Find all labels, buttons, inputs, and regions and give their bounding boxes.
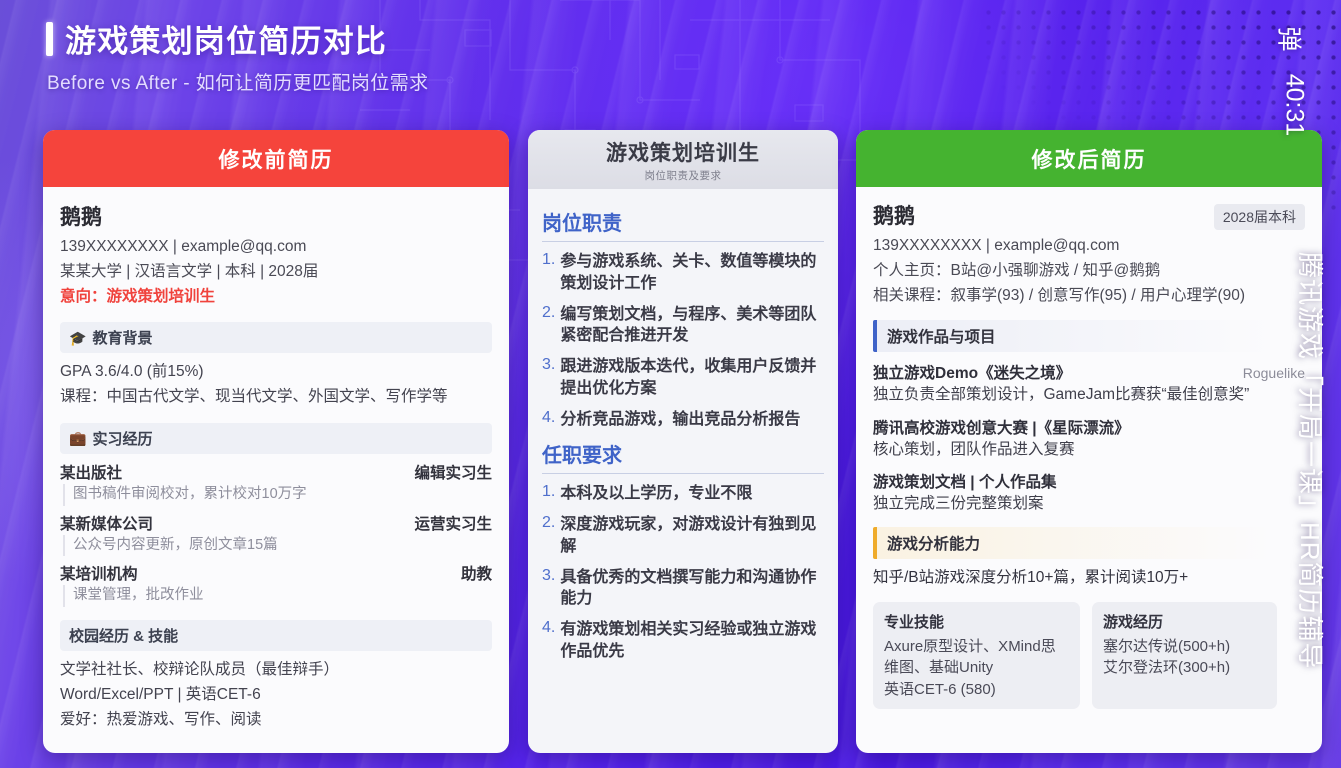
jd-list-item: 2. 深度游戏玩家，对游戏设计有独到见解 [542, 514, 824, 558]
jd-card-body: 岗位职责 1. 参与游戏系统、关卡、数值等模块的策划设计工作 2. 编写策划文档… [528, 189, 838, 682]
internship-item: 某培训机构 助教 课堂管理，批改作业 [60, 562, 492, 607]
internship-org: 某新媒体公司 [60, 512, 153, 534]
jd-section-heading: 任职要求 [542, 439, 824, 474]
before-internship-section-header: 💼 实习经历 [60, 423, 492, 454]
jd-list-item: 4. 分析竞品游戏，输出竞品分析报告 [542, 409, 824, 431]
graduation-cap-icon: 🎓 [69, 331, 86, 345]
skills-box-title: 专业技能 [884, 611, 1069, 632]
skills-box-line: 英语CET-6 (580) [884, 679, 1069, 700]
graduation-badge: 2028届本科 [1214, 204, 1305, 230]
internship-role: 运营实习生 [414, 512, 492, 534]
jd-item-text: 具备优秀的文档撰写能力和沟通协作能力 [560, 567, 824, 611]
after-homepage-line: 个人主页：B站@小强聊游戏 / 知乎@鹅鹅 [873, 258, 1305, 283]
before-campus-title: 校园经历 & 技能 [69, 625, 178, 646]
project-title-row: 独立游戏Demo《迷失之境》 Roguelike [873, 361, 1305, 383]
after-analysis-section-header: 游戏分析能力 [873, 527, 1305, 559]
internship-desc: 公众号内容更新，原创文章15篇 [63, 535, 492, 557]
jd-item-number: 3. [542, 567, 555, 611]
jd-section-heading: 岗位职责 [542, 207, 824, 242]
jd-list-item: 4. 有游戏策划相关实习经验或独立游戏作品优先 [542, 619, 824, 663]
page-subtitle: Before vs After - 如何让简历更匹配岗位需求 [47, 68, 429, 95]
internship-item-row: 某新媒体公司 运营实习生 [60, 512, 492, 534]
before-campus-section-header: 校园经历 & 技能 [60, 620, 492, 651]
internship-item: 某新媒体公司 运营实习生 公众号内容更新，原创文章15篇 [60, 512, 492, 557]
jd-list-item: 2. 编写策划文档，与程序、美术等团队紧密配合推进开发 [542, 304, 824, 348]
jd-item-text: 深度游戏玩家，对游戏设计有独到见解 [560, 514, 824, 558]
stream-overlay-timer-group: 弹 40:31 [1262, 18, 1325, 120]
after-courses-line: 相关课程：叙事学(93) / 创意写作(95) / 用户心理学(90) [873, 283, 1305, 308]
internship-org: 某出版社 [60, 461, 122, 483]
before-campus-line: Word/Excel/PPT | 英语CET-6 [60, 683, 492, 708]
project-title-row: 腾讯高校游戏创意大赛 |《星际漂流》 [873, 416, 1305, 438]
after-projects-section-header: 游戏作品与项目 [873, 320, 1305, 352]
before-person-name: 鹅鹅 [60, 201, 492, 231]
stream-timer: 40:31 [1279, 74, 1309, 137]
jd-item-text: 分析竞品游戏，输出竞品分析报告 [560, 409, 800, 431]
project-title: 游戏策划文档 | 个人作品集 [873, 470, 1056, 492]
after-analysis-line: 知乎/B站游戏深度分析10+篇，累计阅读10万+ [873, 566, 1305, 590]
before-card-body: 鹅鹅 139XXXXXXXX | example@qq.com 某某大学 | 汉… [43, 187, 509, 743]
before-education-line: GPA 3.6/4.0 (前15%) [60, 360, 492, 385]
before-education-section-header: 🎓 教育背景 [60, 322, 492, 353]
before-campus-line: 爱好：热爱游戏、写作、阅读 [60, 708, 492, 733]
vertical-watermark: 腾讯游戏「开局一课」HR简历辅导 [1290, 248, 1341, 768]
game-box-title: 游戏经历 [1103, 611, 1266, 632]
after-contact-line: 139XXXXXXXX | example@qq.com [873, 233, 1305, 258]
jd-item-text: 跟进游戏版本迭代，收集用户反馈并提出优化方案 [560, 356, 824, 400]
before-card-header-label: 修改前简历 [219, 144, 334, 174]
jd-list-item: 1. 本科及以上学历，专业不限 [542, 483, 824, 505]
jd-list-item: 1. 参与游戏系统、关卡、数值等模块的策划设计工作 [542, 251, 824, 295]
job-description-card: 游戏策划培训生 岗位职责及要求 岗位职责 1. 参与游戏系统、关卡、数值等模块的… [528, 130, 838, 753]
jd-item-text: 有游戏策划相关实习经验或独立游戏作品优先 [560, 619, 824, 663]
jd-card-header: 游戏策划培训生 岗位职责及要求 [528, 130, 838, 189]
internship-desc: 图书稿件审阅校对，累计校对10万字 [63, 484, 492, 506]
before-intent-line: 意向：游戏策划培训生 [60, 284, 492, 309]
jd-list-item: 3. 跟进游戏版本迭代，收集用户反馈并提出优化方案 [542, 356, 824, 400]
page-title: 游戏策划岗位简历对比 [65, 16, 387, 61]
briefcase-icon: 💼 [69, 431, 86, 445]
jd-item-number: 2. [542, 514, 555, 558]
project-item: 独立游戏Demo《迷失之境》 Roguelike 独立负责全部策划设计，Game… [873, 361, 1305, 406]
before-intent-label: 意向： [60, 288, 107, 305]
project-title: 独立游戏Demo《迷失之境》 [873, 361, 1071, 383]
jd-item-number: 1. [542, 483, 555, 505]
before-resume-card: 修改前简历 鹅鹅 139XXXXXXXX | example@qq.com 某某… [43, 130, 509, 753]
before-contact-line: 139XXXXXXXX | example@qq.com [60, 234, 492, 259]
project-desc: 独立负责全部策划设计，GameJam比赛获“最佳创意奖” [873, 383, 1305, 406]
internship-desc: 课堂管理，批改作业 [63, 585, 492, 607]
project-title-row: 游戏策划文档 | 个人作品集 [873, 470, 1305, 492]
internship-role: 助教 [461, 562, 492, 584]
after-resume-card: 修改后简历 鹅鹅 2028届本科 139XXXXXXXX | example@q… [856, 130, 1322, 753]
internship-item-row: 某出版社 编辑实习生 [60, 461, 492, 483]
jd-item-text: 编写策划文档，与程序、美术等团队紧密配合推进开发 [560, 304, 824, 348]
project-item: 腾讯高校游戏创意大赛 |《星际漂流》 核心策划，团队作品进入复赛 [873, 416, 1305, 461]
before-school-line: 某某大学 | 汉语言文学 | 本科 | 2028届 [60, 259, 492, 284]
jd-item-text: 参与游戏系统、关卡、数值等模块的策划设计工作 [560, 251, 824, 295]
jd-item-number: 2. [542, 304, 555, 348]
jd-title: 游戏策划培训生 [606, 137, 760, 167]
title-accent-bar [46, 22, 53, 56]
internship-item-row: 某培训机构 助教 [60, 562, 492, 584]
project-desc: 独立完成三份完整策划案 [873, 492, 1305, 515]
slide-header: 游戏策划岗位简历对比 Before vs After - 如何让简历更匹配岗位需… [46, 16, 429, 95]
slide-canvas: 游戏策划岗位简历对比 Before vs After - 如何让简历更匹配岗位需… [0, 0, 1341, 768]
game-box-line: 艾尔登法环(300+h) [1103, 657, 1266, 678]
after-card-body: 鹅鹅 2028届本科 139XXXXXXXX | example@qq.com … [856, 187, 1322, 719]
before-education-title: 教育背景 [92, 327, 152, 348]
jd-item-text: 本科及以上学历，专业不限 [560, 483, 752, 505]
danmaku-label[interactable]: 弹 [1279, 26, 1309, 51]
skills-box-line: Axure原型设计、XMind思维图、基础Unity [884, 636, 1069, 679]
before-education-line: 课程：中国古代文学、现当代文学、外国文学、写作学等 [60, 385, 492, 410]
jd-list-item: 3. 具备优秀的文档撰写能力和沟通协作能力 [542, 567, 824, 611]
after-card-header-label: 修改后简历 [1032, 144, 1147, 174]
after-header-row: 鹅鹅 2028届本科 [873, 200, 1305, 233]
skills-box: 专业技能 Axure原型设计、XMind思维图、基础Unity 英语CET-6 … [873, 602, 1080, 709]
title-row: 游戏策划岗位简历对比 [46, 16, 429, 61]
jd-item-number: 3. [542, 356, 555, 400]
game-experience-box: 游戏经历 塞尔达传说(500+h) 艾尔登法环(300+h) [1092, 602, 1277, 709]
before-intent-value: 游戏策划培训生 [107, 288, 216, 305]
jd-item-number: 4. [542, 619, 555, 663]
internship-item: 某出版社 编辑实习生 图书稿件审阅校对，累计校对10万字 [60, 461, 492, 506]
after-person-name: 鹅鹅 [873, 200, 915, 230]
internship-org: 某培训机构 [60, 562, 138, 584]
jd-item-number: 4. [542, 409, 555, 431]
after-card-header: 修改后简历 [856, 130, 1322, 187]
before-internship-title: 实习经历 [92, 428, 152, 449]
after-bottom-boxes: 专业技能 Axure原型设计、XMind思维图、基础Unity 英语CET-6 … [873, 602, 1305, 709]
project-desc: 核心策划，团队作品进入复赛 [873, 438, 1305, 461]
game-box-line: 塞尔达传说(500+h) [1103, 636, 1266, 657]
jd-subtitle: 岗位职责及要求 [645, 168, 722, 183]
project-title: 腾讯高校游戏创意大赛 |《星际漂流》 [873, 416, 1130, 438]
project-item: 游戏策划文档 | 个人作品集 独立完成三份完整策划案 [873, 470, 1305, 515]
jd-item-number: 1. [542, 251, 555, 295]
before-campus-line: 文学社社长、校辩论队成员（最佳辩手） [60, 658, 492, 683]
vertical-watermark-text: 腾讯游戏「开局一课」HR简历辅导 [1293, 252, 1330, 670]
before-card-header: 修改前简历 [43, 130, 509, 187]
internship-role: 编辑实习生 [414, 461, 492, 483]
